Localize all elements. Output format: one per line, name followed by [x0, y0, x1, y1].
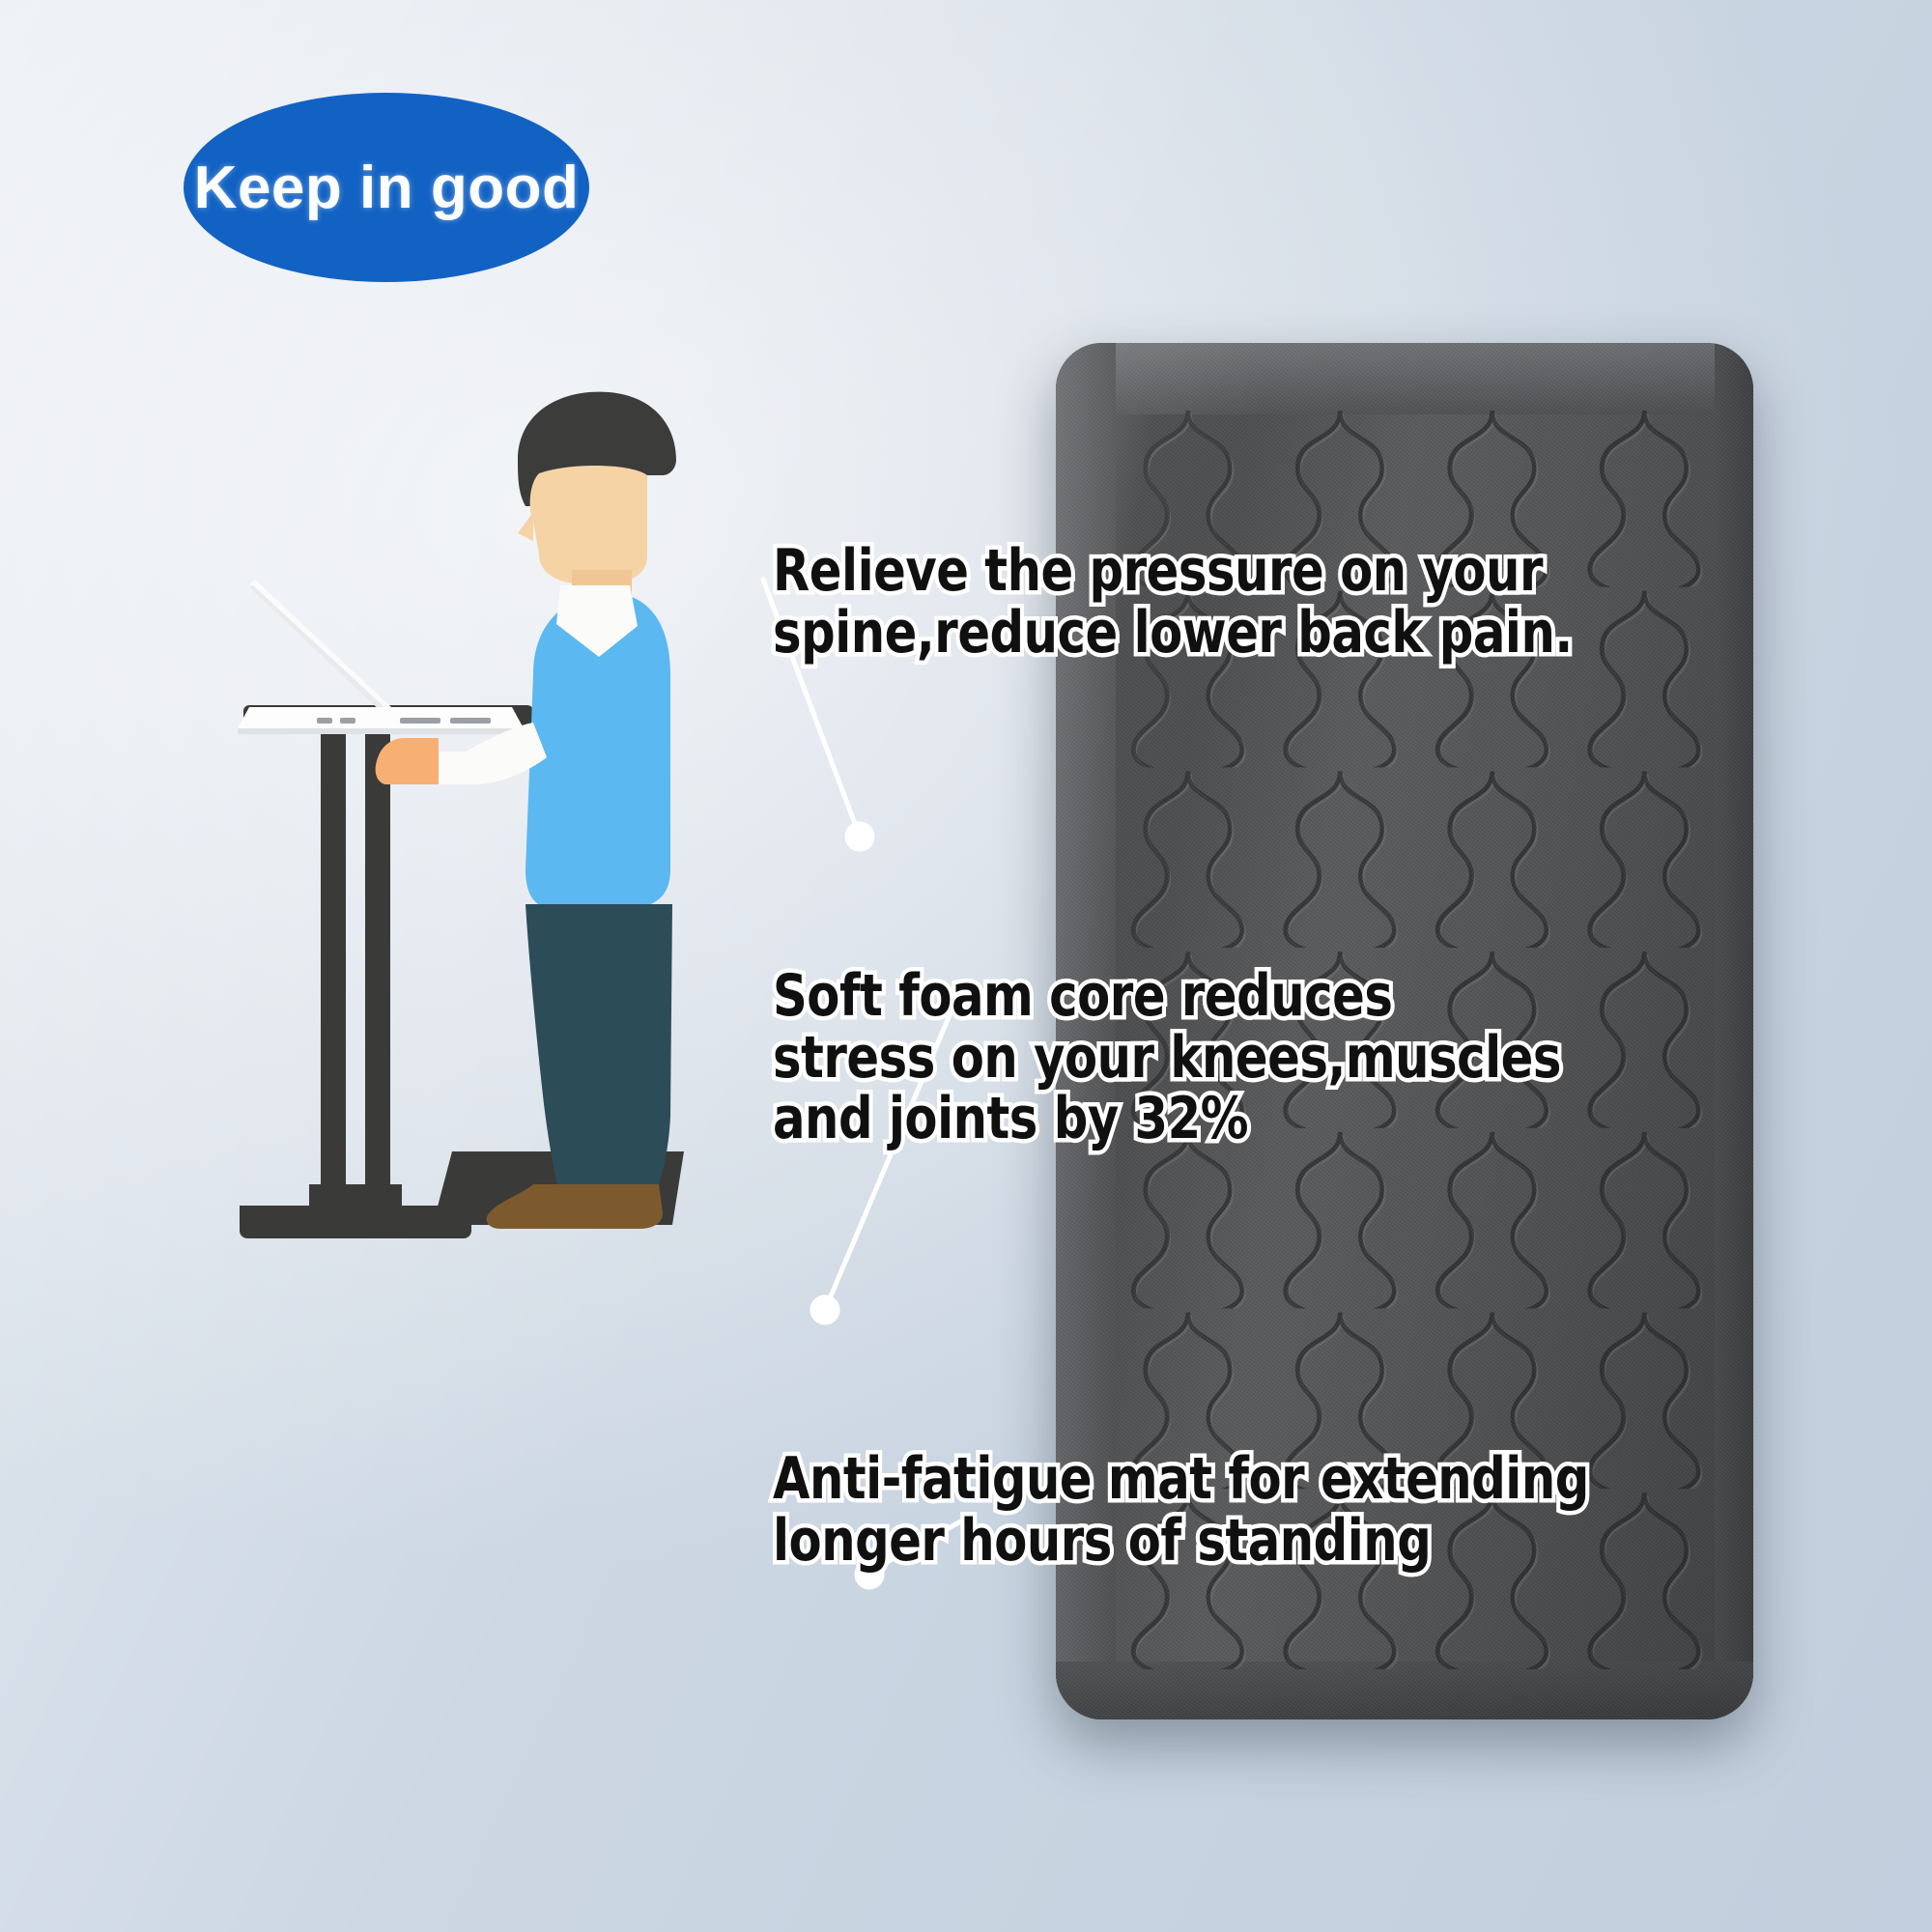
headline-badge-label: Keep in good: [194, 154, 580, 222]
person-figure: [376, 392, 676, 1229]
face: [530, 466, 647, 583]
feature-2-line-1: Soft foam core reduces: [773, 966, 1561, 1028]
feature-2-line-3: and joints by 32%: [773, 1089, 1561, 1151]
feature-callout-soft-foam-core: Soft foam core reduces stress on your kn…: [773, 966, 1561, 1151]
feature-callout-relieve-pressure: Relieve the pressure on your spine,reduc…: [773, 541, 1573, 664]
mat-bevel-top: [1056, 343, 1753, 414]
feature-1-line-1: Relieve the pressure on your: [773, 541, 1573, 603]
feature-1-line-2: spine,reduce lower back pain.: [773, 603, 1573, 665]
feature-3-line-2: longer hours of standing: [773, 1511, 1589, 1573]
pants: [526, 904, 672, 1190]
laptop: [238, 580, 524, 734]
mat-bevel-right: [1715, 343, 1753, 1719]
feature-callout-anti-fatigue: Anti-fatigue mat for extending longer ho…: [773, 1449, 1589, 1572]
headline-badge: Keep in good: [184, 93, 589, 282]
feature-2-line-2: stress on your knees,muscles: [773, 1028, 1561, 1090]
feature-3-line-1: Anti-fatigue mat for extending: [773, 1449, 1589, 1511]
mat-bevel-bottom: [1056, 1662, 1753, 1719]
infographic-canvas: Relieve the pressure on your spine,reduc…: [0, 0, 1932, 1932]
